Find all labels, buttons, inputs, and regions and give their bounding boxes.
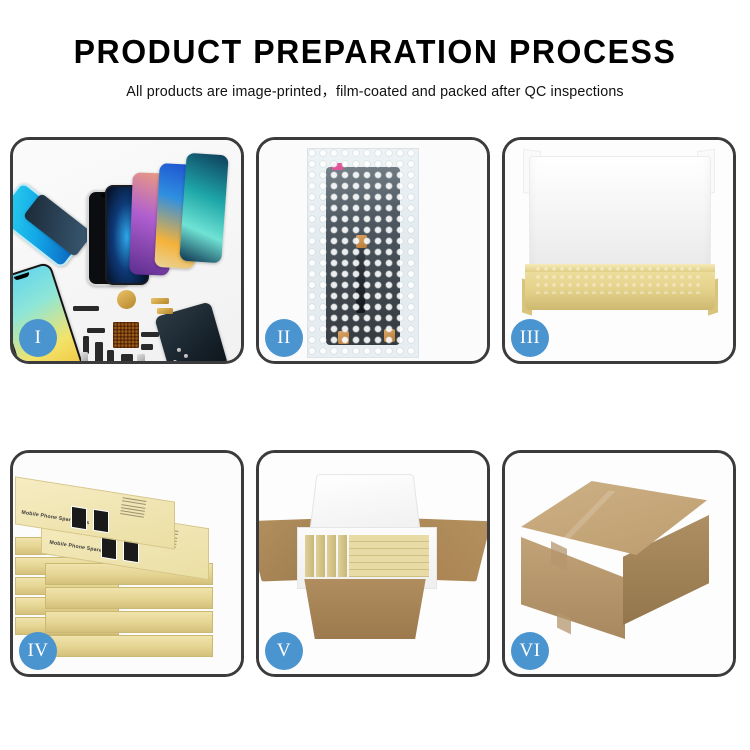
- yellow-box-vertical-3: [327, 535, 336, 577]
- bubble-wrap-bag: [307, 148, 419, 358]
- packed-yellow-boxes: [305, 535, 429, 577]
- yellow-box-stack-horizontal: [349, 535, 429, 577]
- phone-teal-gradient: [179, 153, 228, 264]
- part-gold-flex-a: [151, 298, 169, 304]
- box-spec-lines-a: [120, 497, 147, 520]
- part-sim-tray: [81, 352, 88, 364]
- box-screen-image-a1: [71, 506, 87, 531]
- step-panel-3: III: [502, 137, 736, 364]
- part-gold-coil: [117, 290, 136, 309]
- stacked-box-r4: [45, 635, 213, 657]
- spare-parts-cluster: [73, 290, 193, 364]
- yellow-box-vertical-2: [316, 535, 325, 577]
- step-badge-2: II: [265, 319, 303, 357]
- header: PRODUCT PREPARATION PROCESS All products…: [0, 0, 750, 101]
- part-flex-cable-a: [87, 328, 105, 333]
- part-screw-b: [184, 354, 188, 358]
- foam-lid-open: [309, 474, 421, 534]
- step-badge-6: VI: [511, 632, 549, 670]
- product-preparation-infographic: PRODUCT PREPARATION PROCESS All products…: [0, 0, 750, 750]
- part-vibrator: [137, 354, 145, 364]
- step-badge-5: V: [265, 632, 303, 670]
- part-receiver: [141, 344, 153, 350]
- bubble-wrapped-contents: [535, 266, 703, 294]
- part-camera-module: [121, 354, 133, 364]
- step-panel-4: Mobile Phone Spare Parts Mobile Phone Sp…: [10, 450, 244, 677]
- notch-icon: [14, 272, 30, 281]
- step-panel-2: II: [256, 137, 490, 364]
- carton-front-wall: [299, 579, 431, 639]
- part-speaker-mesh: [73, 306, 99, 311]
- step-panel-1: I: [10, 137, 244, 364]
- part-flex-cable-c: [95, 342, 103, 362]
- part-button-bracket: [107, 350, 114, 364]
- box-screen-image-a2: [93, 509, 109, 534]
- step-badge-4: IV: [19, 632, 57, 670]
- process-steps-grid: I II: [10, 137, 740, 677]
- page-subtitle: All products are image-printed，film-coat…: [0, 80, 750, 101]
- part-gold-flex-b: [157, 308, 173, 314]
- part-screw-c: [173, 360, 177, 364]
- stacked-box-r2: [45, 587, 213, 609]
- bubble-texture: [308, 149, 418, 357]
- white-foam-sheet: [529, 156, 711, 280]
- step-panel-5: V: [256, 450, 490, 677]
- part-connector-grid: [113, 322, 139, 348]
- carton-face-left: [521, 537, 625, 639]
- part-screw-a: [177, 348, 181, 352]
- page-title: PRODUCT PREPARATION PROCESS: [11, 34, 739, 71]
- yellow-box-vertical-4: [338, 535, 347, 577]
- yellow-box-vertical-1: [305, 535, 314, 577]
- step-badge-3: III: [511, 319, 549, 357]
- step-panel-6: VI: [502, 450, 736, 677]
- part-antenna-flex: [141, 332, 159, 337]
- stacked-box-r3: [45, 611, 213, 633]
- step-badge-1: I: [19, 319, 57, 357]
